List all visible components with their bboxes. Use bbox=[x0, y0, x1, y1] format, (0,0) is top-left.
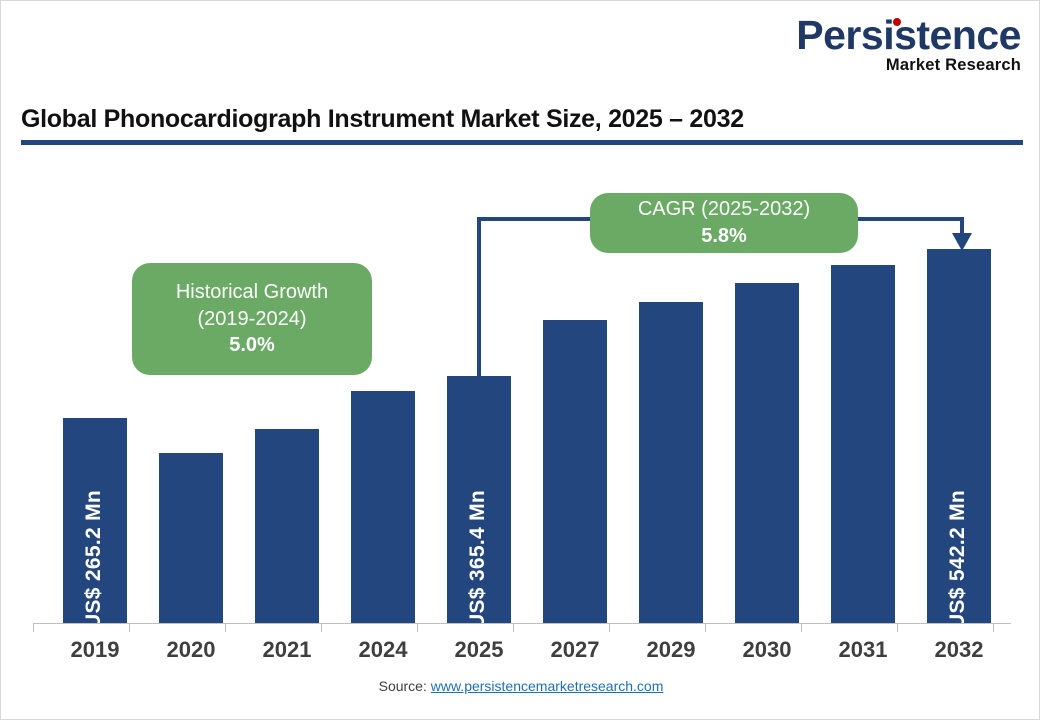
bar-2030[interactable] bbox=[735, 283, 799, 623]
x-axis-label-2031: 2031 bbox=[815, 637, 911, 663]
bar-value-label-2019: US$ 265.2 Mn bbox=[82, 490, 106, 629]
bar-2029[interactable] bbox=[639, 302, 703, 623]
axis-tick bbox=[609, 623, 610, 632]
axis-tick bbox=[705, 623, 706, 632]
x-axis-label-2025: 2025 bbox=[431, 637, 527, 663]
axis-tick bbox=[225, 623, 226, 632]
axis-tick bbox=[321, 623, 322, 632]
x-axis-label-2019: 2019 bbox=[47, 637, 143, 663]
historical-growth-line2: (2019-2024) bbox=[198, 306, 307, 333]
bar-value-label-2025: US$ 365.4 Mn bbox=[466, 490, 490, 629]
bar-2021[interactable] bbox=[255, 429, 319, 623]
bar-2031[interactable] bbox=[831, 265, 895, 623]
historical-growth-line1: Historical Growth bbox=[176, 279, 328, 306]
x-axis-label-2021: 2021 bbox=[239, 637, 335, 663]
axis-tick bbox=[993, 623, 994, 632]
cagr-value: 5.8% bbox=[701, 223, 747, 250]
historical-growth-badge: Historical Growth (2019-2024) 5.0% bbox=[132, 263, 372, 375]
axis-tick bbox=[801, 623, 802, 632]
axis-tick bbox=[897, 623, 898, 632]
x-axis-label-2029: 2029 bbox=[623, 637, 719, 663]
source-link[interactable]: www.persistencemarketresearch.com bbox=[431, 678, 664, 694]
x-axis-label-2027: 2027 bbox=[527, 637, 623, 663]
x-axis-label-2020: 2020 bbox=[143, 637, 239, 663]
historical-growth-value: 5.0% bbox=[229, 332, 275, 359]
axis-tick bbox=[417, 623, 418, 632]
bar-2020[interactable] bbox=[159, 453, 223, 623]
x-axis-label-2024: 2024 bbox=[335, 637, 431, 663]
source-line: Source: www.persistencemarketresearch.co… bbox=[1, 678, 1040, 694]
bar-value-label-2032: US$ 542.2 Mn bbox=[946, 490, 970, 629]
axis-tick bbox=[513, 623, 514, 632]
axis-tick bbox=[33, 623, 34, 632]
source-prefix: Source: bbox=[379, 678, 431, 694]
x-axis-label-2032: 2032 bbox=[911, 637, 1007, 663]
x-axis-line bbox=[33, 623, 1011, 624]
x-axis-label-2030: 2030 bbox=[719, 637, 815, 663]
chart-page: Persistence Market Research Global Phono… bbox=[0, 0, 1040, 720]
axis-tick bbox=[129, 623, 130, 632]
bar-2027[interactable] bbox=[543, 320, 607, 623]
bar-2024[interactable] bbox=[351, 391, 415, 623]
cagr-line1: CAGR (2025-2032) bbox=[638, 196, 810, 223]
cagr-badge: CAGR (2025-2032) 5.8% bbox=[590, 193, 858, 253]
